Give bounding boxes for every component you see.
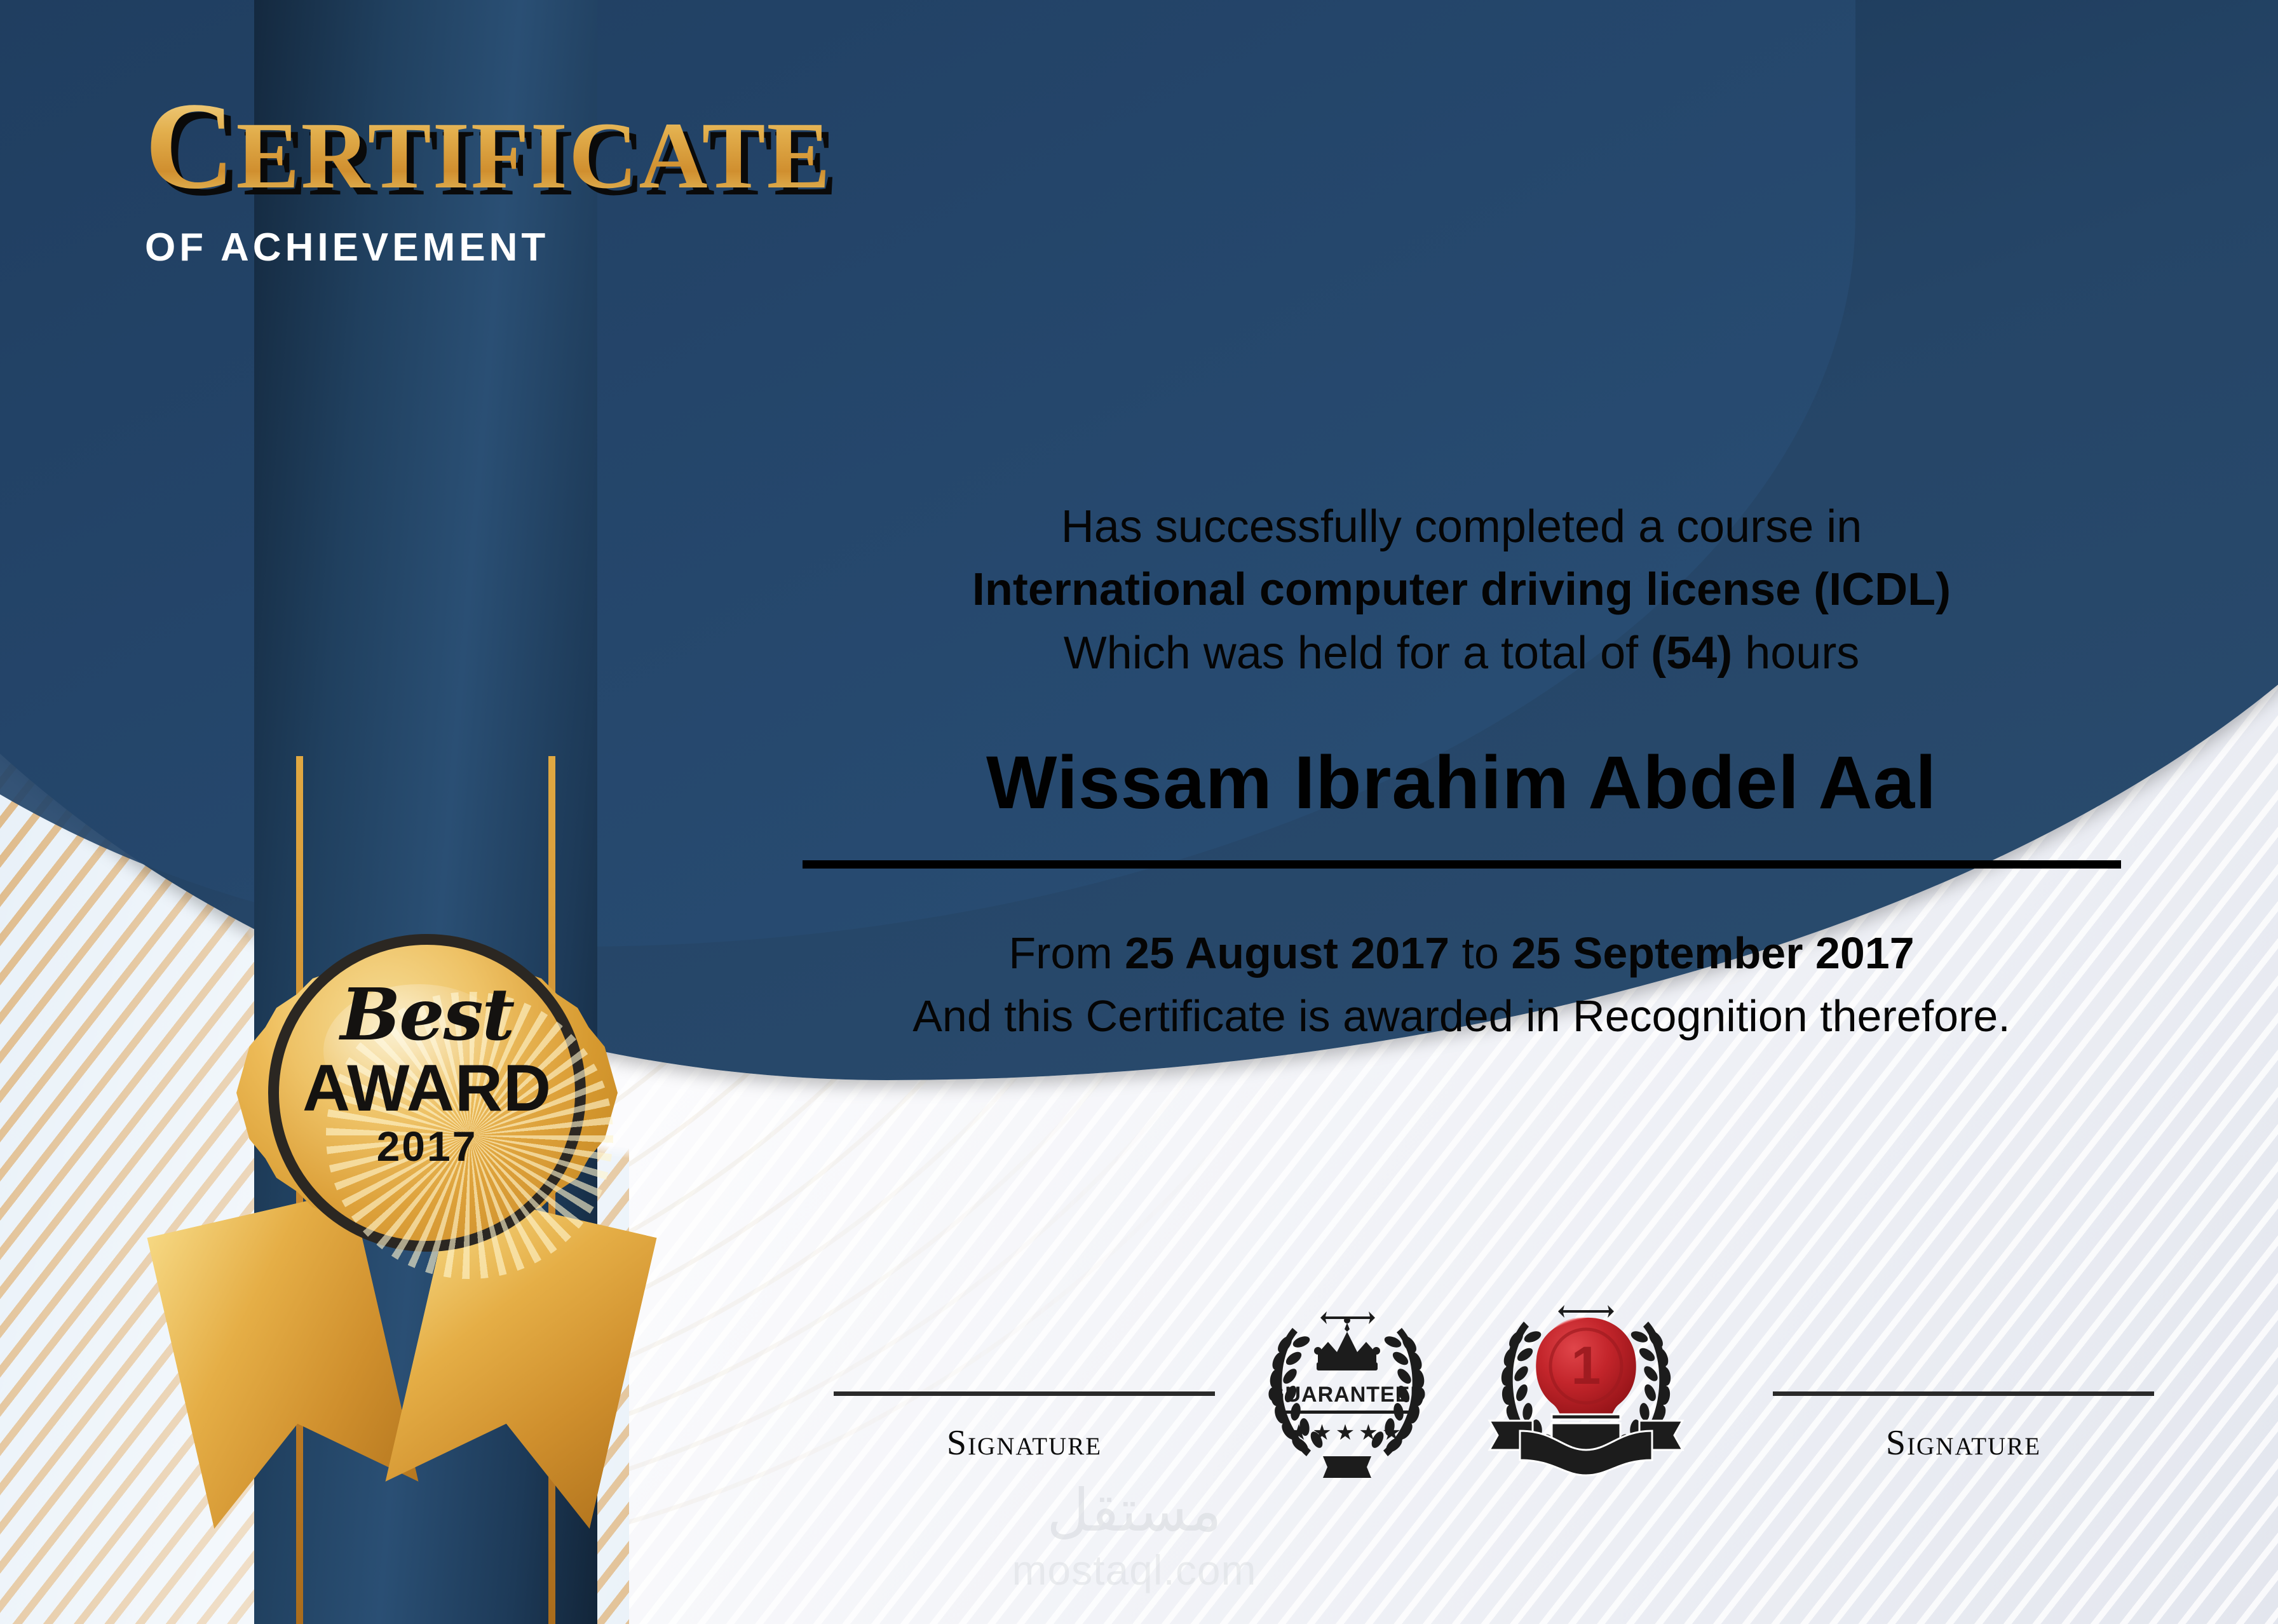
date-to: 25 September 2017 [1511,928,1914,978]
guaranteed-divider [1284,1411,1411,1414]
watermark-arabic: مستقل [956,1480,1312,1542]
seal-banner [1489,1414,1683,1475]
hours-value: (54) [1651,628,1732,679]
medal-text-group: Best AWARD 2017 [236,980,618,1170]
watermark-domain: mostaql.com [956,1546,1312,1594]
recipient-name: Wissam Ibrahim Abdel Aal [731,740,2192,826]
seal-group: GUARANTEED ★★★★★ [1245,1290,1694,1487]
certificate-header: CERTIFICATE OF ACHIEVEMENT [145,89,832,270]
hours-prefix: Which was held for a total of [1064,628,1651,679]
date-middle: to [1449,928,1511,978]
best-award-medal: Best AWARD 2017 [236,902,618,1283]
certificate-canvas: CERTIFICATE OF ACHIEVEMENT Best AWARD 20… [0,0,2278,1624]
recipient-name-rule [803,860,2121,869]
medal-award-label: AWARD [236,1055,618,1122]
course-name: International computer driving license (… [731,558,2192,621]
signature-line-right [1773,1391,2154,1396]
signature-line-left [834,1391,1215,1396]
date-from: 25 August 2017 [1125,928,1449,978]
certificate-subtitle: OF ACHIEVEMENT [145,225,832,270]
guaranteed-stars: ★★★★★ [1289,1420,1405,1445]
guaranteed-label: GUARANTEED [1268,1383,1427,1407]
medal-best-label: Best [236,980,618,1051]
title-dropcap: C [145,77,236,215]
hours-suffix: hours [1732,628,1859,679]
guaranteed-banner [1323,1456,1371,1478]
signature-block-right: Signature [1741,1391,2186,1463]
hours-line: Which was held for a total of (54) hours [731,622,2192,685]
date-range-line: From 25 August 2017 to 25 September 2017 [731,922,2192,985]
closing-line: And this Certificate is awarded in Recog… [731,985,2192,1048]
guaranteed-seal-icon: GUARANTEED ★★★★★ [1245,1290,1449,1480]
page-title: CERTIFICATE [145,89,832,203]
date-prefix: From [1008,928,1125,978]
certificate-body: Has successfully completed a course in I… [731,496,2192,1048]
signature-label-right: Signature [1741,1423,2186,1463]
completion-line: Has successfully completed a course in [731,496,2192,558]
signature-label-left: Signature [802,1423,1247,1463]
medal-year-label: 2017 [236,1123,618,1170]
signature-block-left: Signature [802,1391,1247,1463]
wax-seal-number: 1 [1571,1336,1601,1395]
wax-seal-icon: 1 [1478,1290,1694,1487]
watermark: مستقل mostaql.com [956,1480,1312,1594]
title-remainder: ERTIFICATE [236,103,832,208]
